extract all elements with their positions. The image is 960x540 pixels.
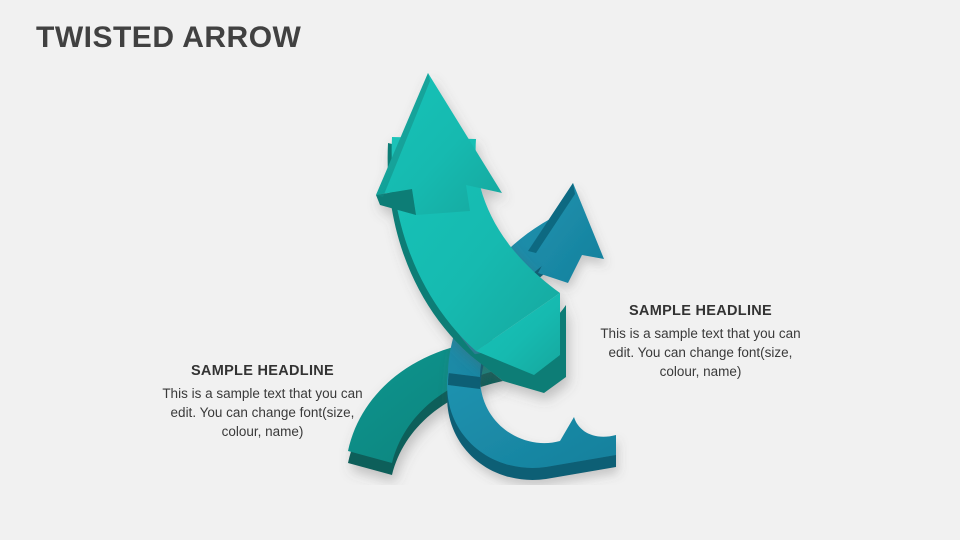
left-body-text: This is a sample text that you can edit.… bbox=[160, 384, 365, 441]
slide-canvas: TWISTED ARROW bbox=[0, 0, 960, 540]
right-headline: SAMPLE HEADLINE bbox=[598, 302, 803, 320]
text-block-right: SAMPLE HEADLINE This is a sample text th… bbox=[598, 302, 803, 381]
page-title: TWISTED ARROW bbox=[36, 20, 301, 56]
left-headline: SAMPLE HEADLINE bbox=[160, 362, 365, 380]
text-block-left: SAMPLE HEADLINE This is a sample text th… bbox=[160, 362, 365, 441]
twisted-arrow-graphic bbox=[320, 55, 650, 485]
right-body-text: This is a sample text that you can edit.… bbox=[598, 324, 803, 381]
